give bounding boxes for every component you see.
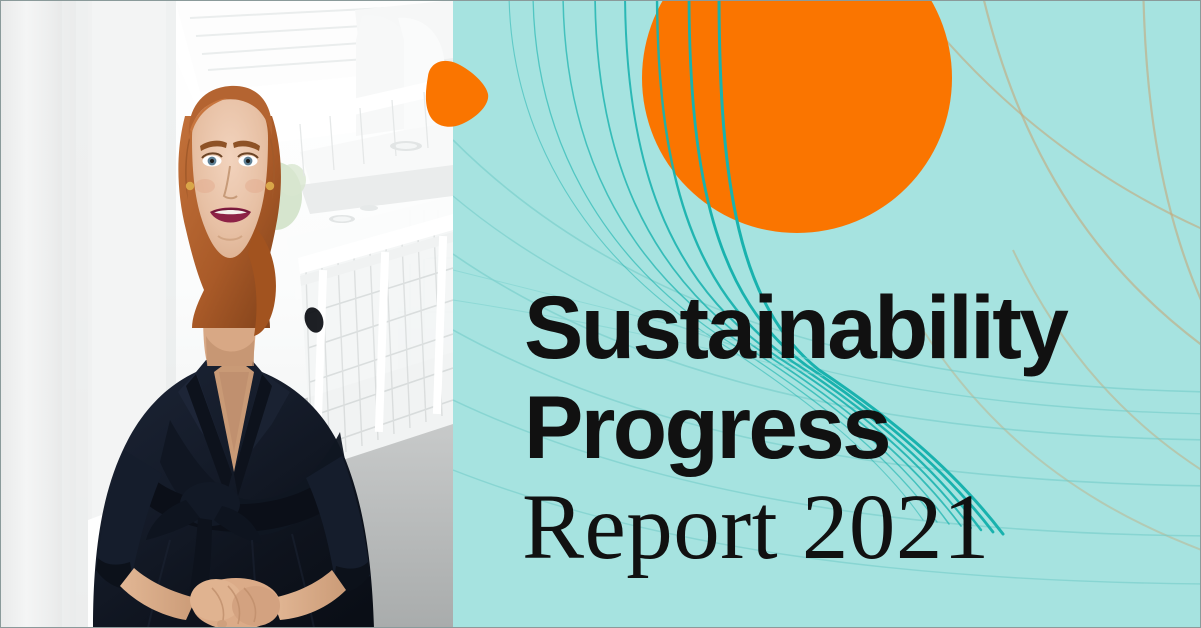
decorative-arcs-and-circle [453,0,1201,628]
teal-graphic-panel [453,0,1201,628]
sustainability-report-banner: Sustainability Progress Report 2021 [0,0,1201,628]
photo-illustration [0,0,453,628]
orange-teardrop-icon [418,58,492,130]
cover-photo [0,0,453,628]
